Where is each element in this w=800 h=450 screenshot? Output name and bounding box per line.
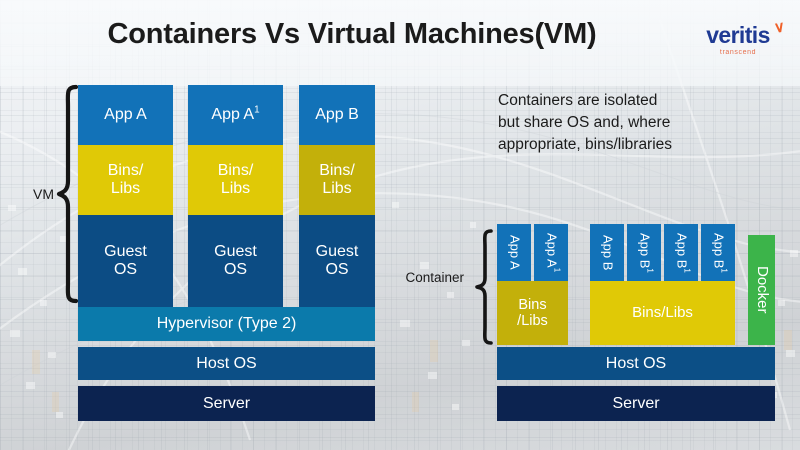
vm-hypervisor-bar: Hypervisor (Type 2): [78, 307, 375, 341]
container-bins-label-b: Bins/Libs: [632, 305, 693, 322]
container-app-label-b4: App B1: [711, 233, 726, 273]
logo-check-icon: ∨: [773, 19, 786, 35]
vm-host-os-label: Host OS: [196, 355, 256, 373]
vm-bins-block-3: Bins/Libs: [299, 145, 375, 215]
vm-guest-block-3: GuestOS: [299, 215, 375, 307]
container-app-block-a2: App A1: [534, 224, 568, 281]
vm-server-label: Server: [203, 395, 250, 413]
docker-label: Docker: [753, 266, 770, 314]
container-app-block-b3: App B1: [664, 224, 698, 281]
vm-guest-block-2: GuestOS: [188, 215, 283, 307]
logo-tagline: transcend: [692, 49, 784, 56]
container-bins-label-a: Bins/Libs: [517, 297, 548, 329]
vm-host-os-bar: Host OS: [78, 347, 375, 380]
container-app-block-b1: App B: [590, 224, 624, 281]
container-app-label-b3: App B1: [674, 233, 689, 273]
docker-block: Docker: [748, 235, 775, 345]
page-title: Containers Vs Virtual Machines(VM): [0, 18, 800, 51]
container-app-label-b2: App B1: [637, 233, 652, 273]
container-note: Containers are isolated but share OS and…: [498, 90, 730, 156]
vm-bins-block-1: Bins/Libs: [78, 145, 173, 215]
container-app-label-a2: App A1: [544, 233, 559, 272]
container-note-line-1: Containers are isolated: [498, 90, 730, 112]
vm-app-label-1: App A: [104, 106, 147, 124]
container-brace: [474, 228, 494, 346]
container-bins-block-a: Bins/Libs: [497, 281, 568, 345]
slide-canvas: Containers Vs Virtual Machines(VM) verit…: [0, 0, 800, 450]
container-host-os-bar: Host OS: [497, 347, 775, 380]
logo-wordmark: veritis: [692, 24, 784, 47]
container-note-line-3: appropriate, bins/libraries: [498, 134, 730, 156]
vm-server-bar: Server: [78, 386, 375, 421]
vm-app-block-1: App A: [78, 85, 173, 145]
vm-bins-block-2: Bins/Libs: [188, 145, 283, 215]
vm-bins-label-3: Bins/Libs: [319, 162, 355, 198]
vm-app-label-2: App A1: [211, 106, 259, 124]
vm-group-label: VM: [8, 180, 54, 208]
container-server-bar: Server: [497, 386, 775, 421]
vm-guest-block-1: GuestOS: [78, 215, 173, 307]
veritis-logo: veritis ∨ transcend: [692, 24, 784, 64]
container-app-label-a1: App A: [507, 235, 522, 270]
container-bins-block-b: Bins/Libs: [590, 281, 735, 345]
container-group-label: Container: [390, 266, 464, 288]
container-app-block-b2: App B1: [627, 224, 661, 281]
vm-app-block-2: App A1: [188, 85, 283, 145]
container-app-label-b1: App B: [600, 235, 615, 270]
container-app-block-b4: App B1: [701, 224, 735, 281]
container-server-label: Server: [612, 395, 659, 413]
vm-app-label-3: App B: [315, 106, 359, 124]
container-host-os-label: Host OS: [606, 355, 666, 373]
vm-app-block-3: App B: [299, 85, 375, 145]
vm-brace: [56, 84, 78, 304]
container-note-line-2: but share OS and, where: [498, 112, 730, 134]
vm-bins-label-2: Bins/Libs: [218, 162, 254, 198]
vm-hypervisor-label: Hypervisor (Type 2): [157, 315, 297, 333]
vm-guest-label-3: GuestOS: [316, 243, 359, 279]
vm-bins-label-1: Bins/Libs: [108, 162, 144, 198]
vm-guest-label-2: GuestOS: [214, 243, 257, 279]
vm-guest-label-1: GuestOS: [104, 243, 147, 279]
container-app-block-a1: App A: [497, 224, 531, 281]
